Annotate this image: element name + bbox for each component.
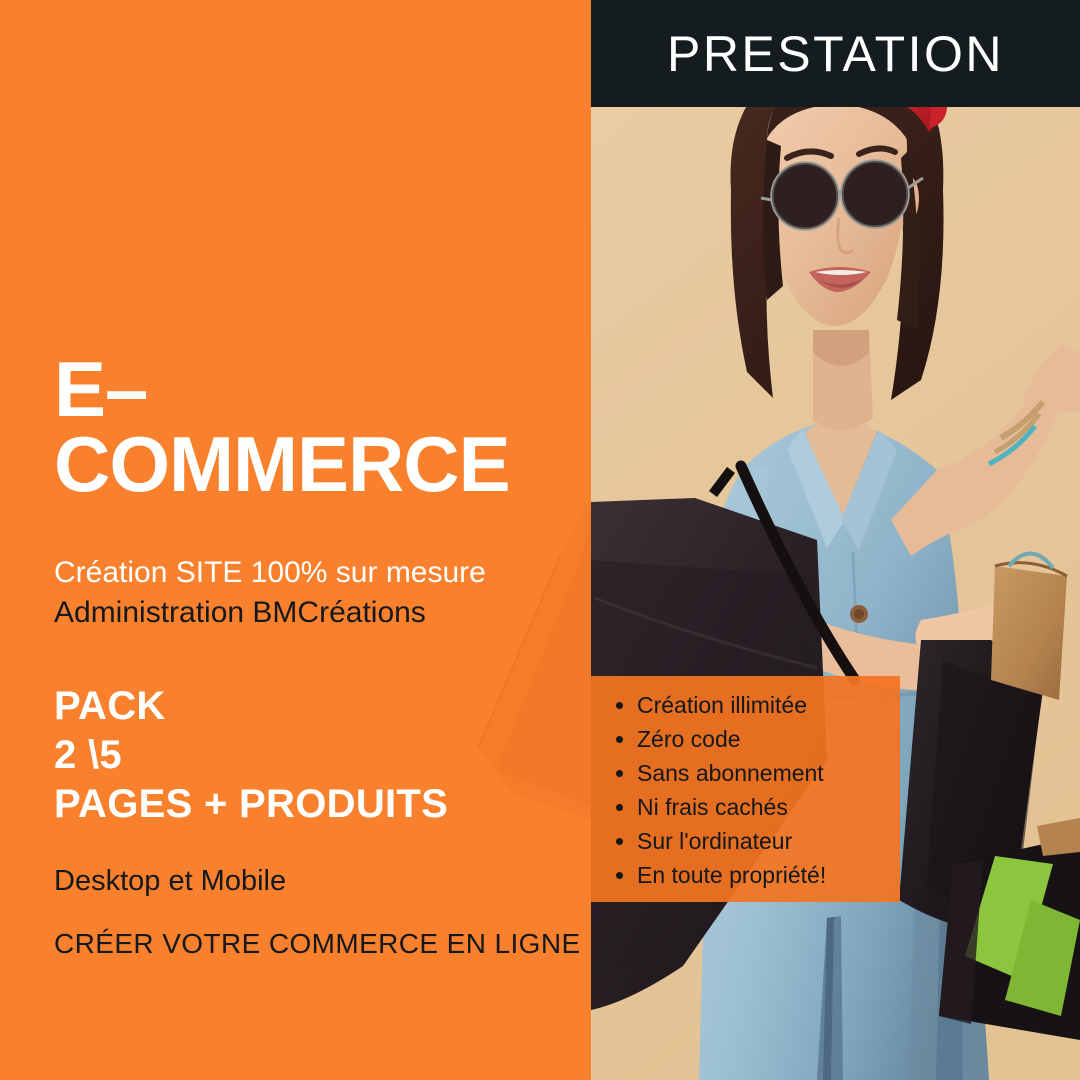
features-list: Création illimitée Zéro code Sans abonne… <box>591 688 900 892</box>
poster-canvas: PRESTATION E– COMMERCE Création SITE 100… <box>0 0 1080 1080</box>
features-box: Création illimitée Zéro code Sans abonne… <box>591 676 900 902</box>
pack-scope: PAGES + PRODUITS <box>54 780 448 829</box>
devices-label: Desktop et Mobile <box>54 865 286 898</box>
pack-range: 2 \5 <box>54 731 448 780</box>
feature-item: Zéro code <box>637 722 900 756</box>
prestation-banner: PRESTATION <box>591 0 1080 107</box>
subheadline-block: Création SITE 100% sur mesure Administra… <box>54 553 486 632</box>
subheadline-administration: Administration BMCréations <box>54 593 486 633</box>
pack-block: PACK 2 \5 PAGES + PRODUITS <box>54 682 448 828</box>
cta-label: CRÉER VOTRE COMMERCE EN LIGNE <box>54 928 581 960</box>
model-photo <box>591 0 1080 1080</box>
feature-item: Sans abonnement <box>637 756 900 790</box>
headline-line-1: E– <box>54 352 510 427</box>
feature-item: Sur l'ordinateur <box>637 824 900 858</box>
left-content-panel: E– COMMERCE Création SITE 100% sur mesur… <box>0 0 591 1080</box>
feature-item: Création illimitée <box>637 688 900 722</box>
model-photo-illustration <box>591 0 1080 1080</box>
subheadline-creation: Création SITE 100% sur mesure <box>54 553 486 593</box>
headline-block: E– COMMERCE <box>54 352 510 502</box>
feature-item: Ni frais cachés <box>637 790 900 824</box>
feature-item: En toute propriété! <box>637 858 900 892</box>
headline-line-2: COMMERCE <box>54 427 510 502</box>
pack-label: PACK <box>54 682 448 731</box>
banner-title: PRESTATION <box>667 29 1004 79</box>
